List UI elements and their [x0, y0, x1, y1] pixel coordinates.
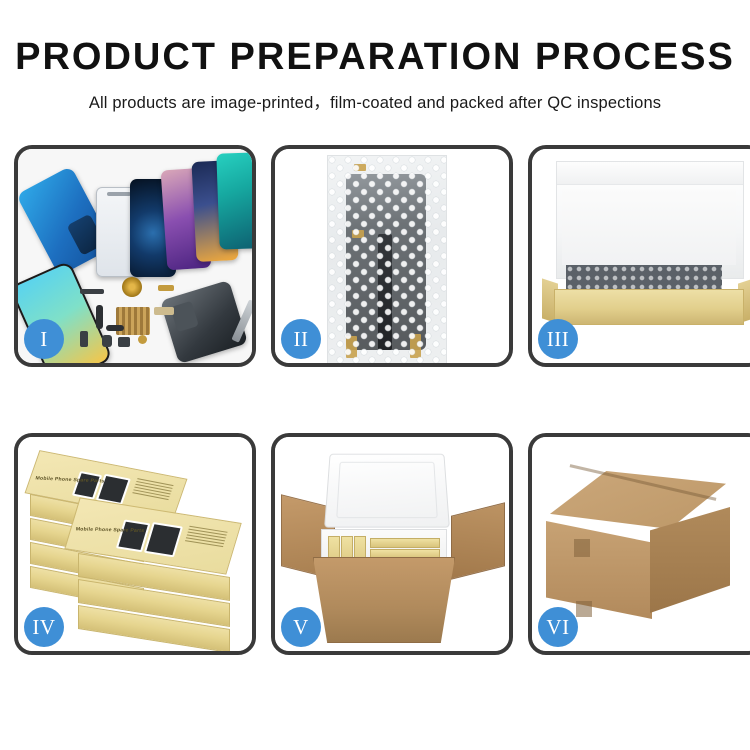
- camera-module-part: [102, 335, 112, 347]
- process-step-panel-6: VI: [528, 433, 750, 655]
- box-label-text-front: Mobile Phone Spare Parts: [75, 526, 144, 533]
- cream-module-part: [154, 307, 174, 315]
- box-spec-lines-front: [184, 526, 227, 549]
- packed-box-4: [370, 538, 440, 548]
- speaker-coil-part: [122, 277, 142, 297]
- ribbon-cable-part: [106, 325, 124, 331]
- carton-flap-tab-upper: [574, 539, 590, 557]
- flex-cable-part: [96, 305, 103, 329]
- page-title: PRODUCT PREPARATION PROCESS: [0, 38, 750, 78]
- step-badge-4: IV: [24, 607, 64, 647]
- step-badge-3: III: [538, 319, 578, 359]
- bubble-wrap-texture: [328, 156, 446, 363]
- process-step-panel-1: I: [14, 145, 256, 367]
- carton-right-flap: [451, 502, 505, 579]
- process-steps-grid: I II: [14, 145, 736, 679]
- bubble-wrap-bag: [327, 155, 447, 363]
- white-foam-liner: [562, 189, 736, 265]
- step-badge-5: V: [281, 607, 321, 647]
- box-window-front-2: [144, 522, 183, 557]
- screw-part: [138, 335, 147, 344]
- page-header: PRODUCT PREPARATION PROCESS All products…: [0, 0, 750, 113]
- phone-back-housing: [160, 280, 248, 363]
- box-spec-lines-back: [132, 478, 174, 502]
- carton-body: [313, 557, 455, 643]
- process-step-panel-4: Mobile Phone Spare Parts Mobile Phone Sp…: [14, 433, 256, 655]
- carton-front-face: [546, 521, 652, 619]
- process-step-panel-2: II: [271, 145, 513, 367]
- process-step-panel-5: V: [271, 433, 513, 655]
- page-subtitle: All products are image-printed，film-coat…: [0, 89, 750, 113]
- button-part: [118, 337, 130, 347]
- step-badge-2: II: [281, 319, 321, 359]
- foam-lid: [324, 454, 450, 528]
- process-step-panel-3: III: [528, 145, 750, 367]
- sim-tray-part: [80, 331, 88, 347]
- step-badge-1: I: [24, 319, 64, 359]
- step-badge-6: VI: [538, 607, 578, 647]
- gold-flex-part: [158, 285, 174, 291]
- small-chip-part: [80, 289, 104, 294]
- carton-flap-tab-lower: [576, 601, 592, 617]
- teal-gradient-phone: [216, 152, 252, 249]
- product-preparation-process-page: PRODUCT PREPARATION PROCESS All products…: [0, 0, 750, 750]
- kraft-box-front-panel: [554, 289, 744, 325]
